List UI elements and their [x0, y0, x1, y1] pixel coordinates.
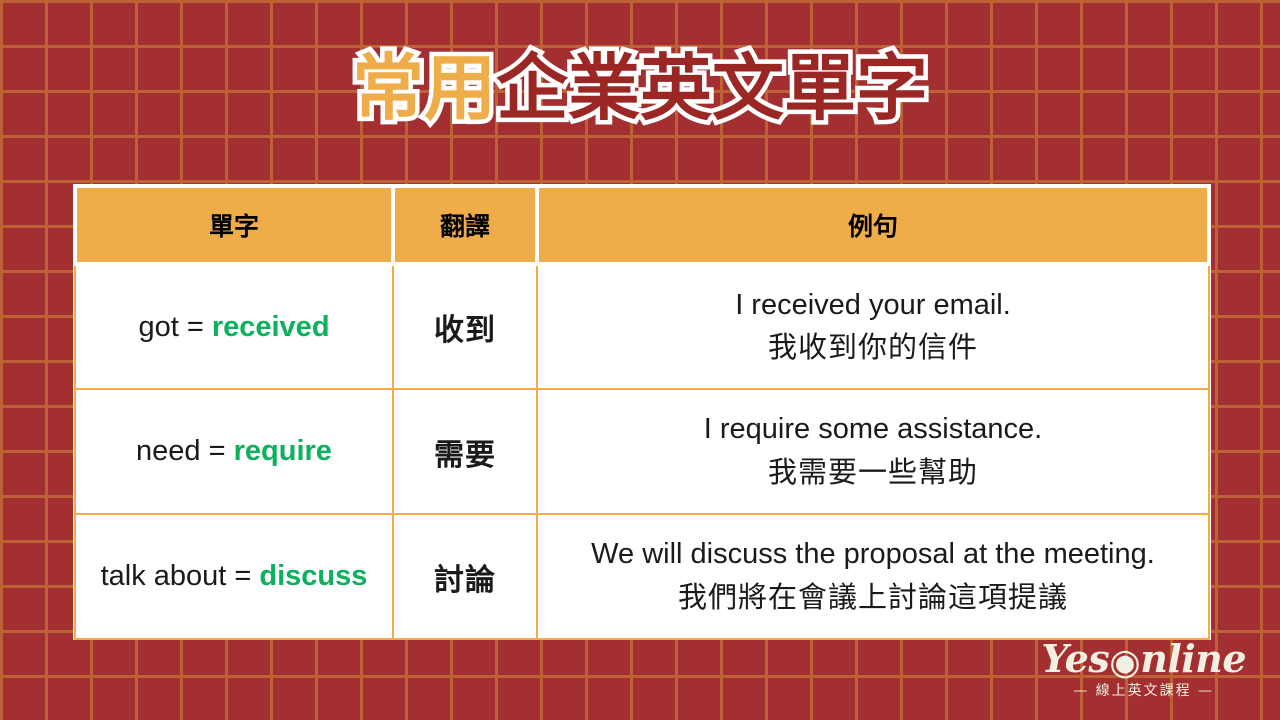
cell-translation: 討論	[393, 514, 537, 639]
column-header-example: 例句	[537, 186, 1209, 264]
word-highlight: received	[212, 311, 330, 343]
table-row: got = received 收到 I received your email.…	[75, 264, 1209, 389]
brand-logo: Yes◉nline — 線上英文課程 —	[1041, 640, 1246, 698]
title-main-part: 企業英文單字	[496, 46, 928, 130]
cell-example: We will discuss the proposal at the meet…	[537, 514, 1209, 639]
cell-example: I received your email. 我收到你的信件	[537, 264, 1209, 389]
cell-word: need = require	[75, 389, 393, 514]
brand-word-yes: Yes	[1041, 636, 1109, 681]
brand-word-nline: nline	[1140, 636, 1246, 681]
table-body: got = received 收到 I received your email.…	[75, 264, 1209, 639]
table-row: need = require 需要 I require some assista…	[75, 389, 1209, 514]
word-highlight: require	[234, 435, 332, 467]
table-header: 單字 翻譯 例句	[75, 186, 1209, 264]
word-plain: talk about =	[101, 560, 260, 592]
title-accent-part: 常用	[352, 46, 496, 130]
example-english: I received your email.	[546, 284, 1200, 328]
vocabulary-table: 單字 翻譯 例句 got = received 收到 I received yo…	[73, 184, 1211, 640]
word-plain: need =	[136, 435, 234, 467]
word-highlight: discuss	[259, 560, 367, 592]
example-chinese: 我需要一些幫助	[546, 452, 1200, 496]
title-text: 常用企業英文單字	[352, 52, 928, 124]
swirl-icon: ◉	[1109, 644, 1140, 680]
example-english: We will discuss the proposal at the meet…	[546, 533, 1200, 577]
table-header-row: 單字 翻譯 例句	[75, 186, 1209, 264]
page-title: 常用企業英文單字	[0, 52, 1280, 124]
table-row: talk about = discuss 討論 We will discuss …	[75, 514, 1209, 639]
cell-word: talk about = discuss	[75, 514, 393, 639]
column-header-translation: 翻譯	[393, 186, 537, 264]
cell-translation: 收到	[393, 264, 537, 389]
cell-translation: 需要	[393, 389, 537, 514]
brand-wordmark: Yes◉nline	[1041, 640, 1246, 678]
word-plain: got =	[138, 311, 211, 343]
brand-tagline: — 線上英文課程 —	[1041, 684, 1246, 698]
cell-example: I require some assistance. 我需要一些幫助	[537, 389, 1209, 514]
column-header-word: 單字	[75, 186, 393, 264]
example-english: I require some assistance.	[546, 408, 1200, 452]
cell-word: got = received	[75, 264, 393, 389]
example-chinese: 我們將在會議上討論這項提議	[546, 577, 1200, 621]
example-chinese: 我收到你的信件	[546, 327, 1200, 371]
